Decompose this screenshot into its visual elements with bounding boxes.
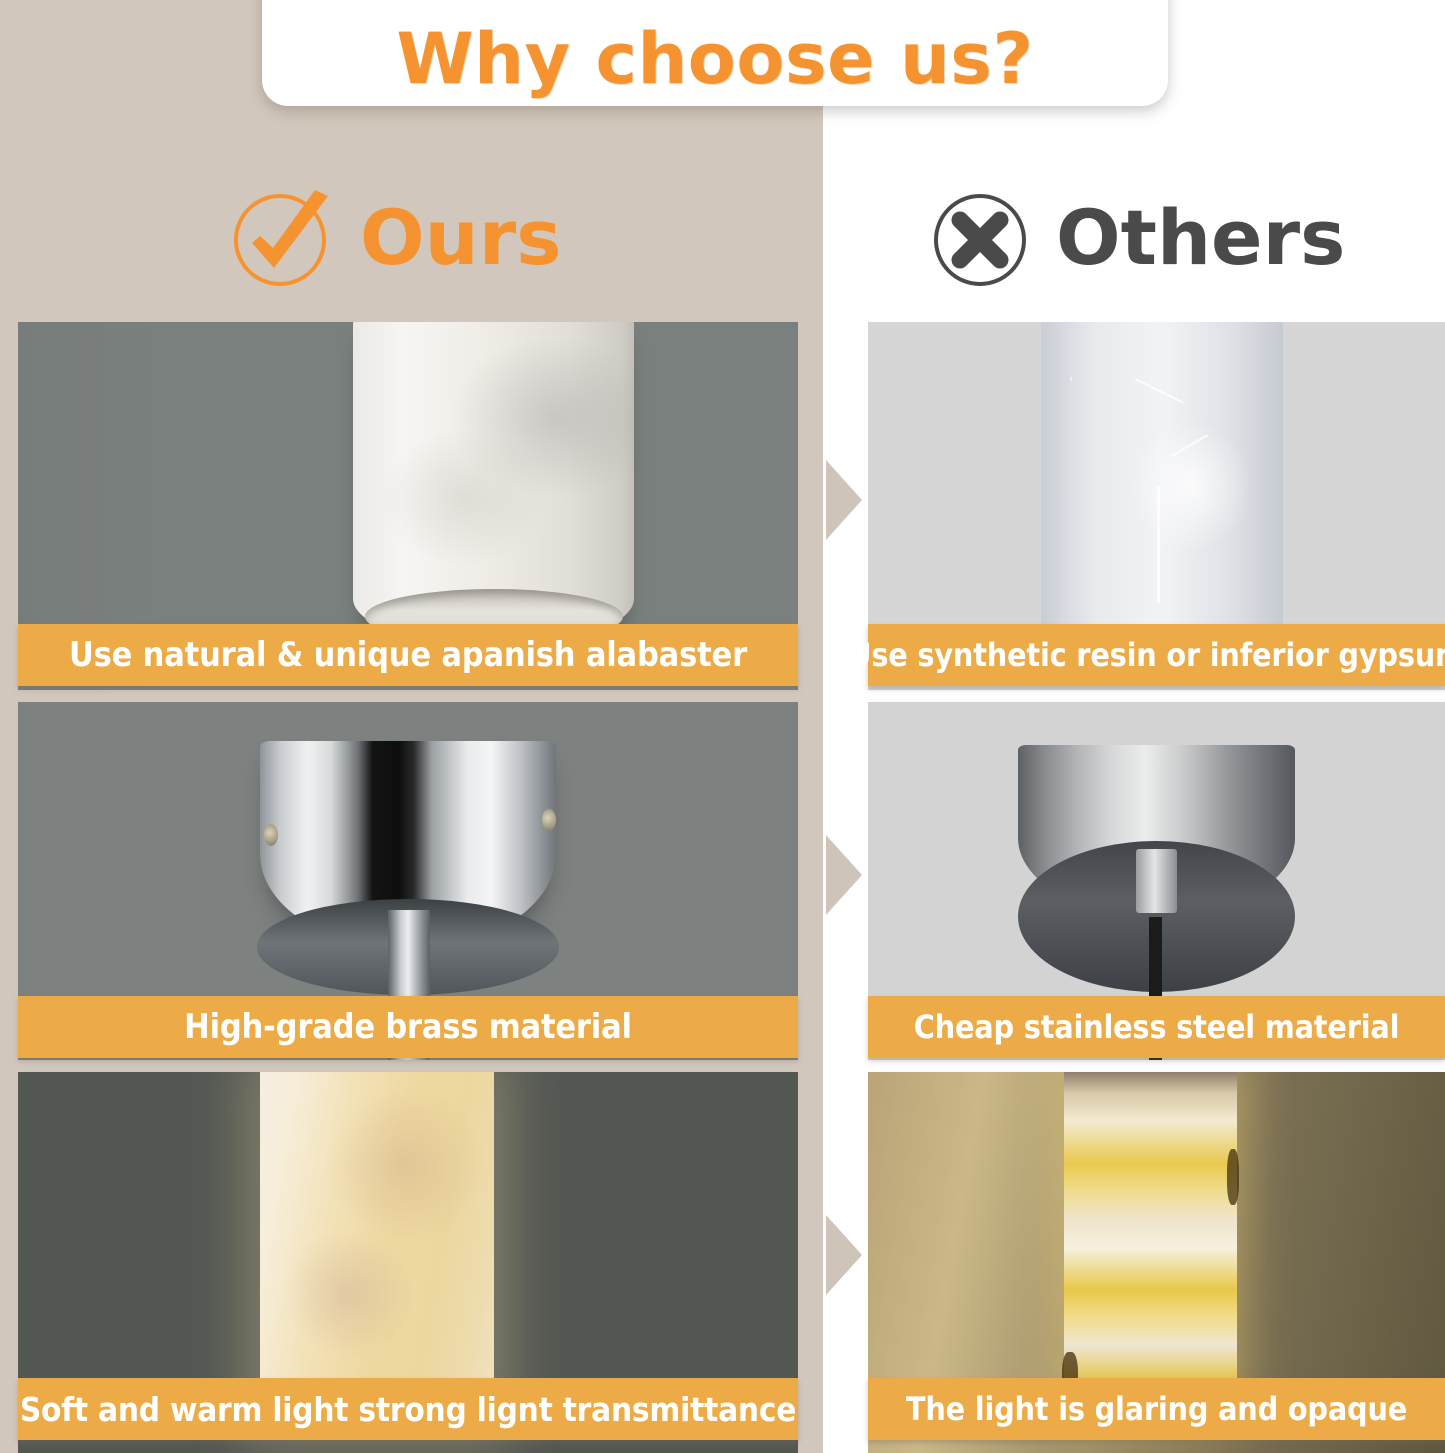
- ours-column-label: Ours: [360, 200, 561, 276]
- ours-row-2-caption: High-grade brass material: [18, 996, 798, 1058]
- others-row-1-caption: Use synthetic resin or inferior gypsum: [868, 624, 1445, 686]
- others-column-label: Others: [1056, 200, 1345, 276]
- circle-check-icon: [232, 186, 336, 290]
- page-title: Why choose us?: [396, 24, 1033, 94]
- vein-line: [1157, 486, 1160, 602]
- ours-row-1-caption: Use natural & unique apanish alabaster: [18, 624, 798, 686]
- resin-cylinder: [1041, 322, 1283, 664]
- ours-column-header: Ours: [232, 186, 561, 290]
- vein-line: [1170, 434, 1209, 458]
- others-row-3-caption: The light is glaring and opaque: [868, 1378, 1445, 1440]
- comparison-arrow-icon: [826, 460, 862, 540]
- circle-x-icon: [928, 186, 1032, 290]
- cable-clamp: [1136, 849, 1176, 913]
- warm-lit-alabaster-slab: [260, 1072, 494, 1430]
- glaring-alabaster-slab: [1064, 1072, 1237, 1423]
- alabaster-cylinder: [353, 322, 634, 644]
- others-row-2-caption: Cheap stainless steel material: [868, 996, 1445, 1058]
- others-column-header: Others: [928, 186, 1345, 290]
- comparison-arrow-icon: [826, 1215, 862, 1295]
- comparison-arrow-icon: [826, 835, 862, 915]
- title-banner: Why choose us?: [262, 0, 1168, 106]
- ours-row-3-caption: Soft and warm light strong lignt transmi…: [18, 1378, 798, 1440]
- why-choose-us-comparison-infographic: Why choose us? Ours Others: [0, 0, 1445, 1453]
- vein-line: [1135, 379, 1184, 404]
